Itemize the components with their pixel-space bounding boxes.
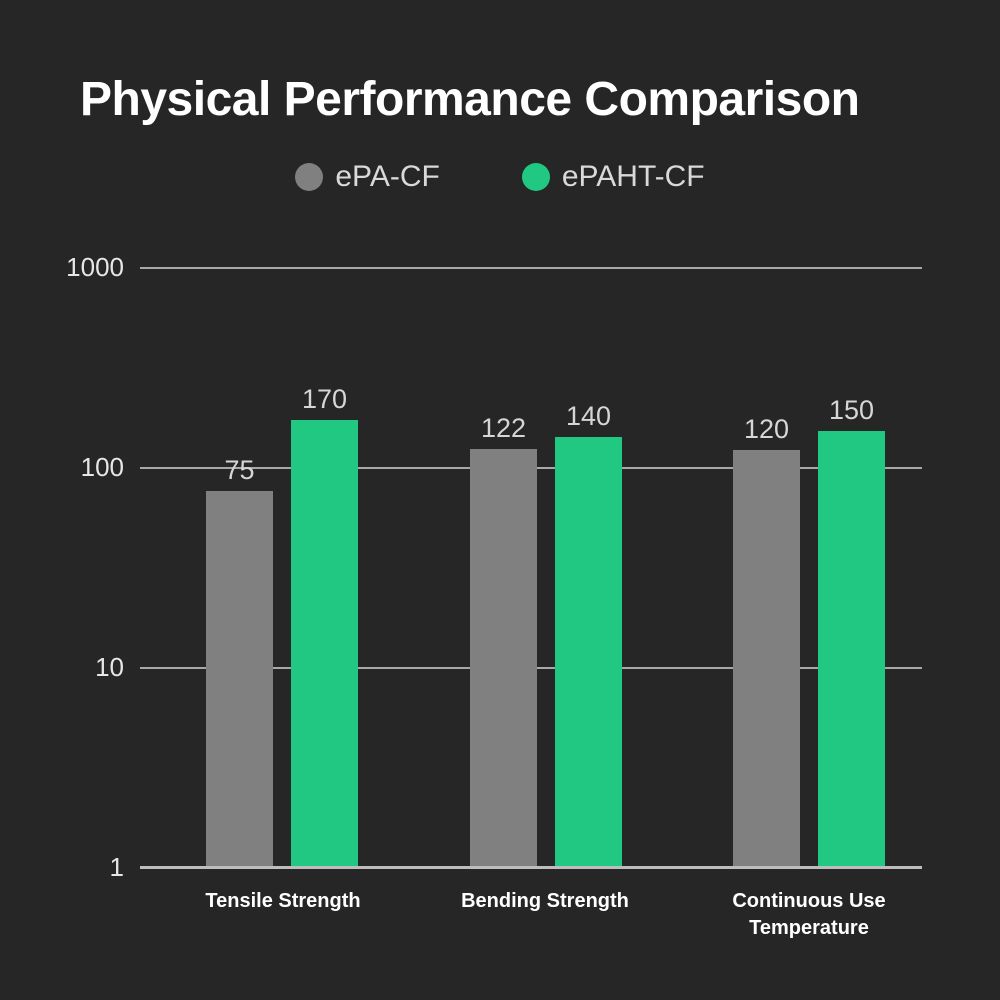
x-axis-category-label-line1: Bending Strength (440, 888, 650, 915)
x-axis-category-tensile-strength: Tensile Strength (178, 888, 388, 915)
chart-legend: ePA-CF ePAHT-CF (0, 160, 1000, 194)
bar-value-epaht-cf-bending-strength: 140 (535, 401, 642, 432)
plot-area: 75 170 122 140 120 150 (140, 267, 922, 868)
legend-item-epaht-cf[interactable]: ePAHT-CF (522, 160, 705, 194)
circle-marker-icon-series-0 (295, 163, 323, 191)
bar-epa-cf-continuous-use-temperature[interactable] (733, 450, 800, 866)
x-axis-category-label-line1: Tensile Strength (178, 888, 388, 915)
y-axis-tick-1: 1 (0, 852, 124, 883)
y-axis-tick-10: 10 (0, 652, 124, 683)
x-axis-category-label-line2: Temperature (704, 915, 914, 942)
circle-marker-icon-series-1 (522, 163, 550, 191)
gridline-1000 (140, 267, 922, 269)
bar-epa-cf-tensile-strength[interactable] (206, 491, 273, 866)
legend-label-series-0: ePA-CF (335, 160, 439, 194)
bar-epaht-cf-bending-strength[interactable] (555, 437, 622, 866)
x-axis-category-continuous-use-temperature: Continuous Use Temperature (704, 888, 914, 942)
chart-container: Physical Performance Comparison ePA-CF e… (0, 0, 1000, 1000)
y-axis-tick-1000: 1000 (0, 252, 124, 283)
bar-value-epaht-cf-continuous-use-temperature: 150 (798, 395, 905, 426)
x-axis-line (140, 866, 922, 869)
bar-value-epaht-cf-tensile-strength: 170 (271, 384, 378, 415)
y-axis-tick-100: 100 (0, 452, 124, 483)
legend-item-epa-cf[interactable]: ePA-CF (295, 160, 439, 194)
chart-title: Physical Performance Comparison (80, 72, 940, 127)
bar-value-epa-cf-tensile-strength: 75 (186, 455, 293, 486)
legend-label-series-1: ePAHT-CF (562, 160, 705, 194)
bar-epaht-cf-tensile-strength[interactable] (291, 420, 358, 866)
bar-epaht-cf-continuous-use-temperature[interactable] (818, 431, 885, 866)
x-axis-category-label-line1: Continuous Use (704, 888, 914, 915)
x-axis-category-bending-strength: Bending Strength (440, 888, 650, 915)
bar-epa-cf-bending-strength[interactable] (470, 449, 537, 866)
